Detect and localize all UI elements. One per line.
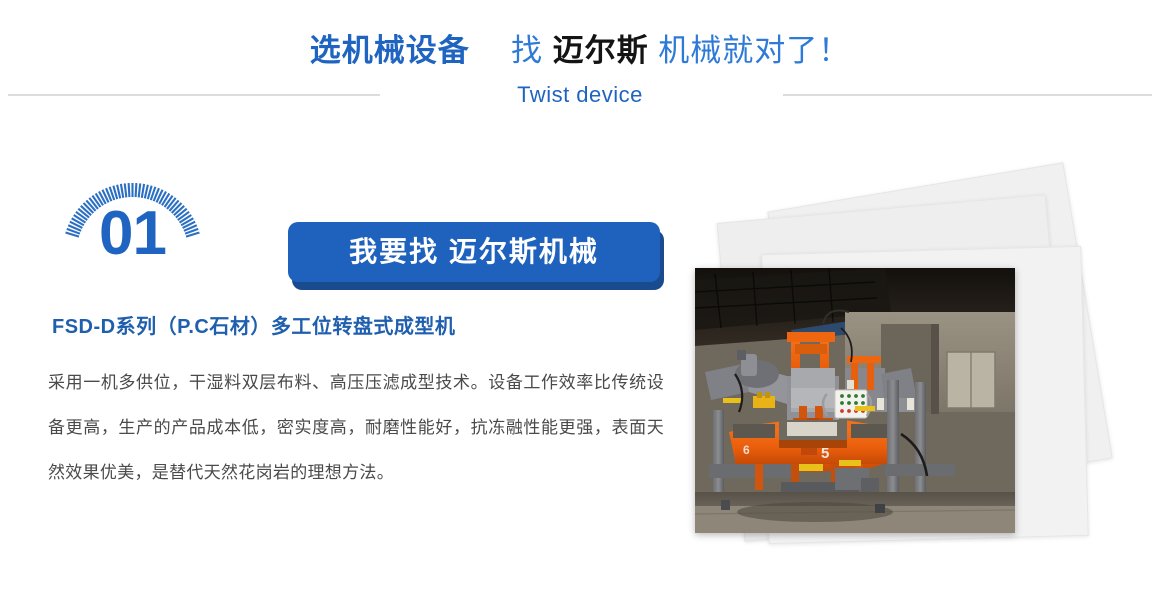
promo-banner: 选机械设备 找 迈尔斯 机械就对了！ Twist device 01 我要找 迈… (0, 0, 1160, 591)
cta-wrapper: 我要找 迈尔斯机械 (288, 222, 664, 290)
content-left: 01 我要找 迈尔斯机械 FSD-D系列（P.C石材）多工位转盘式成型机 采用一… (0, 160, 680, 520)
header: 选机械设备 找 迈尔斯 机械就对了！ Twist device (0, 0, 1160, 125)
product-title: FSD-D系列（P.C石材）多工位转盘式成型机 (52, 313, 672, 341)
product-description: 采用一机多供位，干湿料双层布料、高压压滤成型技术。设备工作效率比传统设备更高，生… (48, 360, 664, 495)
page-title: 选机械设备 找 迈尔斯 机械就对了！ (0, 31, 1160, 71)
find-maiersi-button[interactable]: 我要找 迈尔斯机械 (288, 222, 660, 282)
page-title-brand: 迈尔斯 (553, 33, 649, 68)
page-title-part1: 选机械设备 (310, 33, 470, 68)
product-photo[interactable]: 多工位转盘式成型机 机械设备照片 (695, 268, 1015, 533)
product-image-stack: 多工位转盘式成型机 机械设备照片 (660, 180, 1160, 580)
page-title-part2: 找 (511, 33, 543, 68)
product-photo-image: 6 5 (695, 268, 1015, 533)
svg-text:5: 5 (821, 445, 829, 462)
step-number: 01 (45, 198, 220, 270)
step-badge: 01 (45, 170, 220, 300)
page-subtitle: Twist device (0, 80, 1160, 110)
svg-text:6: 6 (743, 443, 750, 457)
page-title-part3: 机械就对了！ (658, 33, 850, 68)
